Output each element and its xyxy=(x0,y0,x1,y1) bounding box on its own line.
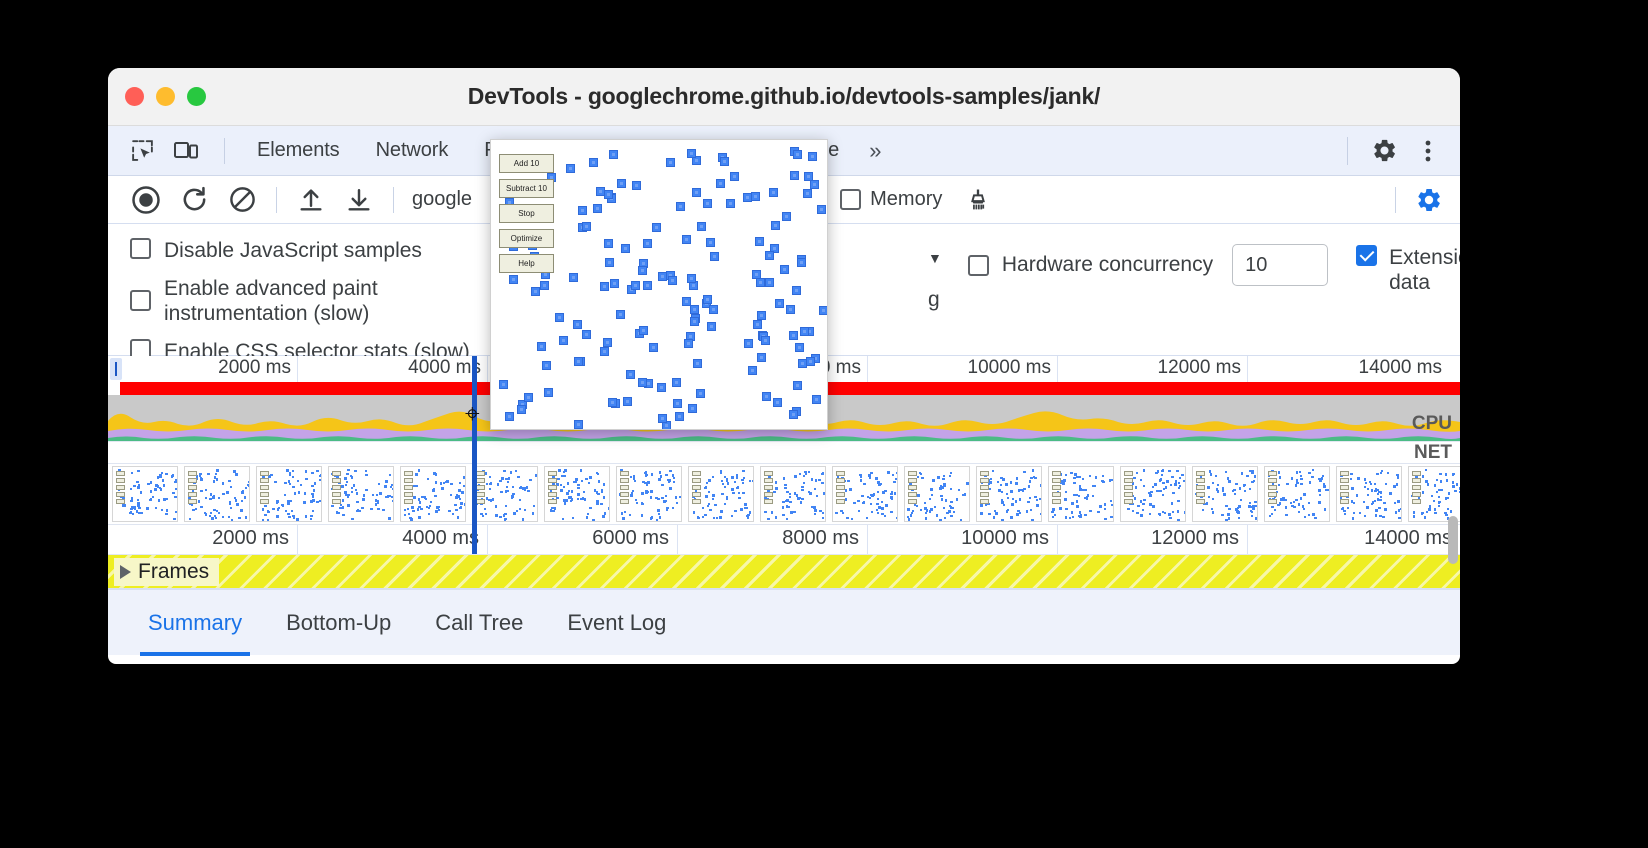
filmstrip-dot xyxy=(1171,502,1173,504)
filmstrip-dot xyxy=(365,474,367,476)
filmstrip-dot xyxy=(714,504,716,506)
filmstrip-dot xyxy=(1350,473,1352,475)
filmstrip-dot xyxy=(1223,494,1225,496)
filmstrip-dot xyxy=(1140,500,1142,502)
filmstrip-dot xyxy=(1142,503,1144,505)
filmstrip-dot xyxy=(860,476,862,478)
filmstrip-dot xyxy=(814,509,816,511)
filmstrip-frame[interactable] xyxy=(112,466,178,522)
filmstrip-button-glyph xyxy=(692,499,701,504)
filmstrip-dot xyxy=(1319,494,1321,496)
advanced-paint-checkbox[interactable] xyxy=(130,290,151,311)
filmstrip-dot xyxy=(336,511,338,513)
filmstrip-dot xyxy=(1028,485,1030,487)
filmstrip-dot xyxy=(298,491,300,493)
filmstrip-dot xyxy=(945,499,947,501)
filmstrip-dot xyxy=(629,514,631,516)
filmstrip-dot xyxy=(1003,504,1005,506)
filmstrip-dot xyxy=(1111,504,1113,506)
jank-square xyxy=(792,286,801,295)
filmstrip-button-glyph xyxy=(1124,471,1133,476)
filmstrip-dot xyxy=(356,492,358,494)
filmstrip-dot xyxy=(940,485,942,487)
filmstrip-dot xyxy=(450,483,452,485)
filmstrip-dot xyxy=(1431,495,1433,497)
filmstrip-dot xyxy=(314,482,316,484)
filmstrip-dot xyxy=(382,509,384,511)
filmstrip-dot xyxy=(140,512,142,514)
filmstrip-dot xyxy=(583,491,585,493)
filmstrip-button-glyph xyxy=(764,471,773,476)
jank-square xyxy=(773,398,782,407)
ruler2-tick-10000: 10000 ms xyxy=(868,525,1058,554)
filmstrip-dot xyxy=(1387,472,1389,474)
filmstrip-button-glyph xyxy=(476,492,485,497)
filmstrip-dot xyxy=(564,502,566,504)
ruler2-tick-12000: 12000 ms xyxy=(1058,525,1248,554)
filmstrip-dot xyxy=(592,519,594,521)
filmstrip-dot xyxy=(930,489,932,491)
filmstrip-dot xyxy=(218,512,220,514)
filmstrip-dot xyxy=(679,496,681,498)
extension-data-checkbox[interactable] xyxy=(1356,245,1377,266)
filmstrip-dot xyxy=(1422,491,1424,493)
filmstrip-dot xyxy=(799,473,801,475)
filmstrip-button-glyph xyxy=(1412,492,1421,497)
filmstrip-dot xyxy=(1029,497,1031,499)
filmstrip-dot xyxy=(378,483,380,485)
filmstrip-dot xyxy=(1243,484,1245,486)
filmstrip-frame[interactable] xyxy=(256,466,322,522)
filmstrip-dot xyxy=(1039,498,1041,500)
jank-square xyxy=(688,404,697,413)
ruler2-tick-6000: 6000 ms xyxy=(488,525,678,554)
filmstrip-dot xyxy=(641,492,643,494)
filmstrip-dot xyxy=(484,508,486,510)
filmstrip-dot xyxy=(924,502,926,504)
profile-selector-label[interactable]: google xyxy=(412,188,472,211)
filmstrip-dot xyxy=(319,500,321,502)
filmstrip-dot xyxy=(560,484,562,486)
jank-square xyxy=(652,223,661,232)
filmstrip-frame[interactable] xyxy=(976,466,1042,522)
filmstrip-dot xyxy=(742,482,744,484)
filmstrip-dot xyxy=(454,504,456,506)
filmstrip-dot xyxy=(775,487,777,489)
filmstrip-dot xyxy=(550,509,552,511)
filmstrip-dot xyxy=(459,507,461,509)
add-10-button[interactable]: Add 10 xyxy=(499,154,554,173)
filmstrip-dot xyxy=(673,477,675,479)
filmstrip-button-glyph xyxy=(1268,485,1277,490)
filmstrip-dot xyxy=(863,501,865,503)
frames-group-header[interactable]: Frames xyxy=(114,558,219,586)
filmstrip-dot xyxy=(1134,497,1136,499)
jank-square xyxy=(716,179,725,188)
filmstrip-button-glyph xyxy=(188,471,197,476)
filmstrip-dot xyxy=(438,509,440,511)
tab-call-tree[interactable]: Call Tree xyxy=(413,590,545,656)
help-button[interactable]: Help xyxy=(499,254,554,273)
filmstrip-dot xyxy=(391,496,393,498)
jank-square xyxy=(765,251,774,260)
ruler2-tick-14000: 14000 ms xyxy=(1248,525,1460,554)
filmstrip-dot xyxy=(931,494,933,496)
upload-profile-icon[interactable] xyxy=(287,180,335,220)
filmstrip-dot xyxy=(1078,495,1080,497)
filmstrip-dot xyxy=(365,489,367,491)
jank-square xyxy=(744,339,753,348)
disable-js-samples-checkbox[interactable] xyxy=(130,238,151,259)
filmstrip-dot xyxy=(580,469,582,471)
filmstrip-dot xyxy=(351,518,353,520)
tab-event-log[interactable]: Event Log xyxy=(545,590,688,656)
filmstrip-dot xyxy=(1382,516,1384,518)
filmstrip-dot xyxy=(950,506,952,508)
extension-data-row[interactable]: Extension data xyxy=(1356,245,1460,295)
hardware-concurrency-input[interactable]: 10 xyxy=(1232,244,1328,286)
filmstrip-dot xyxy=(1015,482,1017,484)
tabstrip-right-divider xyxy=(1347,137,1348,165)
jank-square xyxy=(531,287,540,296)
filmstrip-frame[interactable] xyxy=(832,466,898,522)
filmstrip-frame[interactable] xyxy=(328,466,394,522)
jank-square xyxy=(509,275,518,284)
jank-square xyxy=(709,305,718,314)
filmstrip-button-glyph xyxy=(836,485,845,490)
filmstrip-dot xyxy=(278,507,280,509)
filmstrip-dot xyxy=(236,503,238,505)
filmstrip-dot xyxy=(600,503,602,505)
jank-square xyxy=(707,322,716,331)
filmstrip-button-glyph xyxy=(188,485,197,490)
capture-settings-gear-icon[interactable] xyxy=(1406,180,1452,220)
filmstrip-dot xyxy=(565,499,567,501)
filmstrip-dot xyxy=(1447,497,1449,499)
filmstrip-button-glyph xyxy=(620,492,629,497)
filmstrip-dot xyxy=(459,498,461,500)
filmstrip-dot xyxy=(228,516,230,518)
filmstrip-dot xyxy=(1271,506,1273,508)
throttling-chevron-down-icon[interactable]: ▼ xyxy=(928,250,942,266)
timeline-playhead[interactable] xyxy=(472,356,477,554)
filmstrip-dot xyxy=(1211,508,1213,510)
filmstrip-dot xyxy=(1000,484,1002,486)
filmstrip-dot xyxy=(891,491,893,493)
filmstrip-dot xyxy=(512,486,514,488)
filmstrip-dot xyxy=(1217,490,1219,492)
filmstrip-frame[interactable] xyxy=(544,466,610,522)
filmstrip-dot xyxy=(387,495,389,497)
filmstrip-dot xyxy=(1440,489,1442,491)
frames-track[interactable]: Frames xyxy=(108,555,1460,589)
filmstrip-dot xyxy=(851,518,853,520)
filmstrip-dot xyxy=(1064,498,1066,500)
jank-square xyxy=(752,270,761,279)
filmstrip-button-glyph xyxy=(332,478,341,483)
filmstrip-dot xyxy=(877,481,879,483)
filmstrip-button-glyph xyxy=(260,485,269,490)
filmstrip-dot xyxy=(944,484,946,486)
jank-square xyxy=(690,305,699,314)
filmstrip-dot xyxy=(392,500,394,502)
overview-selection-left-handle[interactable] xyxy=(110,358,122,380)
filmstrip-dot xyxy=(150,481,152,483)
download-profile-icon[interactable] xyxy=(335,180,383,220)
filmstrip-dot xyxy=(1012,498,1014,500)
more-vertical-icon[interactable] xyxy=(1406,131,1450,171)
filmstrip-dot xyxy=(222,493,224,495)
jank-square xyxy=(569,273,578,282)
filmstrip-dot xyxy=(846,517,848,519)
filmstrip-dot xyxy=(1454,490,1456,492)
filmstrip-dot xyxy=(573,481,575,483)
filmstrip-dot xyxy=(287,500,289,502)
jank-square xyxy=(810,180,819,189)
hardware-concurrency-row[interactable]: Hardware concurrency 10 xyxy=(968,244,1328,286)
jank-square xyxy=(605,258,614,267)
filmstrip-dot xyxy=(921,477,923,479)
filmstrip-dot xyxy=(821,482,823,484)
filmstrip-dot xyxy=(1175,480,1177,482)
perf-toolbar-right xyxy=(1385,180,1460,220)
filmstrip-dot xyxy=(1166,480,1168,482)
clear-icon[interactable] xyxy=(218,180,266,220)
filmstrip-dot xyxy=(522,518,524,520)
filmstrip-dot xyxy=(191,504,193,506)
subtract-10-button[interactable]: Subtract 10 xyxy=(499,179,554,198)
filmstrip-dot xyxy=(313,489,315,491)
filmstrip-dot xyxy=(650,517,652,519)
filmstrip-dot xyxy=(1366,506,1368,508)
filmstrip-dot xyxy=(1074,473,1076,475)
frames-expander-icon[interactable] xyxy=(120,565,131,579)
filmstrip-dot xyxy=(1312,469,1314,471)
filmstrip-dot xyxy=(511,497,513,499)
filmstrip-dot xyxy=(752,480,754,482)
filmstrip-frame[interactable] xyxy=(760,466,826,522)
advanced-paint-label: Enable advanced paint instrumentation (s… xyxy=(164,276,494,327)
tab-network[interactable]: Network xyxy=(358,139,467,162)
filmstrip-frame[interactable] xyxy=(1048,466,1114,522)
filmstrip-dot xyxy=(216,510,218,512)
filmstrip-dot xyxy=(292,515,294,517)
filmstrip-dot xyxy=(1089,510,1091,512)
jank-square xyxy=(638,378,647,387)
filmstrip-button-glyph xyxy=(1124,485,1133,490)
filmstrip-dot xyxy=(786,491,788,493)
filmstrip-dot xyxy=(925,512,927,514)
filmstrip-dot xyxy=(274,481,276,483)
reload-record-icon[interactable] xyxy=(170,180,218,220)
jank-square xyxy=(806,357,815,366)
filmstrip-dot xyxy=(375,499,377,501)
hardware-concurrency-label: Hardware concurrency xyxy=(1002,253,1213,277)
more-tabs-icon[interactable]: » xyxy=(857,138,891,164)
filmstrip-dot xyxy=(939,519,941,521)
filmstrip-button-glyph xyxy=(764,492,773,497)
filmstrip-dot xyxy=(980,504,982,506)
filmstrip-dot xyxy=(1202,509,1204,511)
filmstrip-dot xyxy=(925,517,927,519)
network-activity-band[interactable]: NET xyxy=(108,441,1460,463)
filmstrip-dot xyxy=(863,483,865,485)
filmstrip-dot xyxy=(650,496,652,498)
filmstrip-dot xyxy=(1136,472,1138,474)
garbage-collect-icon[interactable] xyxy=(954,180,1002,220)
filmstrip-frame[interactable] xyxy=(904,466,970,522)
filmstrip-dot xyxy=(1367,494,1369,496)
filmstrip-dot xyxy=(1293,501,1295,503)
filmstrip-dot xyxy=(200,490,202,492)
filmstrip-frame[interactable] xyxy=(616,466,682,522)
filmstrip-dot xyxy=(1280,498,1282,500)
filmstrip-dot xyxy=(564,469,566,471)
filmstrip-frame[interactable] xyxy=(1120,466,1186,522)
filmstrip-dot xyxy=(693,511,695,513)
tab-elements[interactable]: Elements xyxy=(239,139,358,162)
filmstrip-frame[interactable] xyxy=(472,466,538,522)
jank-square xyxy=(803,189,812,198)
jank-demo-buttons: Add 10 Subtract 10 Stop Optimize Help xyxy=(499,154,554,273)
filmstrip-dot xyxy=(228,480,230,482)
filmstrip-dot xyxy=(379,492,381,494)
tab-summary[interactable]: Summary xyxy=(126,590,264,656)
filmstrip-dot xyxy=(1207,486,1209,488)
filmstrip-dot xyxy=(1168,513,1170,515)
jank-square xyxy=(649,343,658,352)
filmstrip-dot xyxy=(300,484,302,486)
filmstrip-dot xyxy=(645,471,647,473)
filmstrip-dot xyxy=(166,509,168,511)
filmstrip-dot xyxy=(200,506,202,508)
filmstrip-frame[interactable] xyxy=(184,466,250,522)
filmstrip-dot xyxy=(130,511,132,513)
filmstrip-frame[interactable] xyxy=(400,466,466,522)
filmstrip-dot xyxy=(1157,470,1159,472)
filmstrip-button-glyph xyxy=(404,471,413,476)
filmstrip-dot xyxy=(1371,489,1373,491)
filmstrip-dot xyxy=(1169,517,1171,519)
filmstrip-dot xyxy=(1318,489,1320,491)
filmstrip-dot xyxy=(293,517,295,519)
filmstrip-dot xyxy=(331,505,333,507)
inspect-icon[interactable] xyxy=(122,133,162,169)
throttling-value-partial: g xyxy=(928,288,940,312)
filmstrip-dot xyxy=(1208,496,1210,498)
filmstrip-dot xyxy=(1102,475,1104,477)
jank-square xyxy=(687,149,696,158)
stop-button[interactable]: Stop xyxy=(499,204,554,223)
tab-bottom-up[interactable]: Bottom-Up xyxy=(264,590,413,656)
filmstrip-button-glyph xyxy=(1052,478,1061,483)
filmstrip-button-glyph xyxy=(404,492,413,497)
filmstrip-dot xyxy=(937,476,939,478)
filmstrip-frame[interactable] xyxy=(1192,466,1258,522)
filmstrip-dot xyxy=(448,510,450,512)
filmstrip-dot xyxy=(443,482,445,484)
filmstrip-dot xyxy=(1177,500,1179,502)
filmstrip-dot xyxy=(726,478,728,480)
filmstrip-dot xyxy=(1079,488,1081,490)
filmstrip-dot xyxy=(657,498,659,500)
filmstrip-dot xyxy=(845,498,847,500)
settings-gear-icon[interactable] xyxy=(1362,131,1406,171)
jank-square xyxy=(710,252,719,261)
filmstrip-button-glyph xyxy=(836,492,845,497)
filmstrip-dot xyxy=(950,488,952,490)
filmstrip-dot xyxy=(1363,501,1365,503)
jank-square xyxy=(604,239,613,248)
filmstrip-dot xyxy=(411,506,413,508)
filmstrip-dot xyxy=(1453,473,1455,475)
filmstrip-dot xyxy=(1380,496,1382,498)
filmstrip-dot xyxy=(460,502,462,504)
memory-checkbox[interactable]: Memory xyxy=(840,188,942,211)
filmstrip-dot xyxy=(597,493,599,495)
filmstrip-dot xyxy=(1319,479,1321,481)
hardware-concurrency-checkbox[interactable] xyxy=(968,255,989,276)
filmstrip-dot xyxy=(1255,517,1257,519)
filmstrip-dot xyxy=(264,514,266,516)
jank-square xyxy=(555,313,564,322)
filmstrip-frame[interactable] xyxy=(1408,466,1460,522)
filmstrip-track[interactable] xyxy=(108,463,1460,525)
filmstrip-dot xyxy=(489,476,491,478)
filmstrip-dot xyxy=(205,497,207,499)
filmstrip-dot xyxy=(359,510,361,512)
jank-square xyxy=(675,412,684,421)
filmstrip-dot xyxy=(346,473,348,475)
jank-square xyxy=(631,281,640,290)
filmstrip-dot xyxy=(581,480,583,482)
filmstrip-frame[interactable] xyxy=(1264,466,1330,522)
filmstrip-dot xyxy=(310,518,312,520)
filmstrip-dot xyxy=(1078,515,1080,517)
filmstrip-dot xyxy=(248,481,250,483)
filmstrip-button-glyph xyxy=(332,485,341,490)
filmstrip-dot xyxy=(1010,481,1012,483)
memory-checkbox-box[interactable] xyxy=(840,189,861,210)
filmstrip-dot xyxy=(137,486,139,488)
filmstrip-dot xyxy=(1225,471,1227,473)
optimize-button[interactable]: Optimize xyxy=(499,229,554,248)
filmstrip-dot xyxy=(943,475,945,477)
filmstrip-dot xyxy=(1298,511,1300,513)
filmstrip-dot xyxy=(1000,477,1002,479)
filmstrip-dot xyxy=(342,499,344,501)
timeline-vertical-scrollbar[interactable] xyxy=(1448,516,1458,564)
jank-square xyxy=(603,338,612,347)
filmstrip-dot xyxy=(918,495,920,497)
filmstrip-dot xyxy=(891,497,893,499)
device-toolbar-icon[interactable] xyxy=(166,133,206,169)
filmstrip-dot xyxy=(1217,484,1219,486)
filmstrip-button-glyph xyxy=(1052,471,1061,476)
filmstrip-dot xyxy=(435,510,437,512)
advanced-paint-row[interactable]: Enable advanced paint instrumentation (s… xyxy=(130,276,494,327)
jank-square xyxy=(578,206,587,215)
filmstrip-dot xyxy=(174,496,176,498)
filmstrip-frame[interactable] xyxy=(688,466,754,522)
record-icon[interactable] xyxy=(122,180,170,220)
filmstrip-dot xyxy=(997,481,999,483)
jank-square xyxy=(757,353,766,362)
filmstrip-dot xyxy=(708,503,710,505)
filmstrip-button-glyph xyxy=(260,471,269,476)
disable-js-samples-row[interactable]: Disable JavaScript samples xyxy=(130,238,494,264)
filmstrip-frame[interactable] xyxy=(1336,466,1402,522)
